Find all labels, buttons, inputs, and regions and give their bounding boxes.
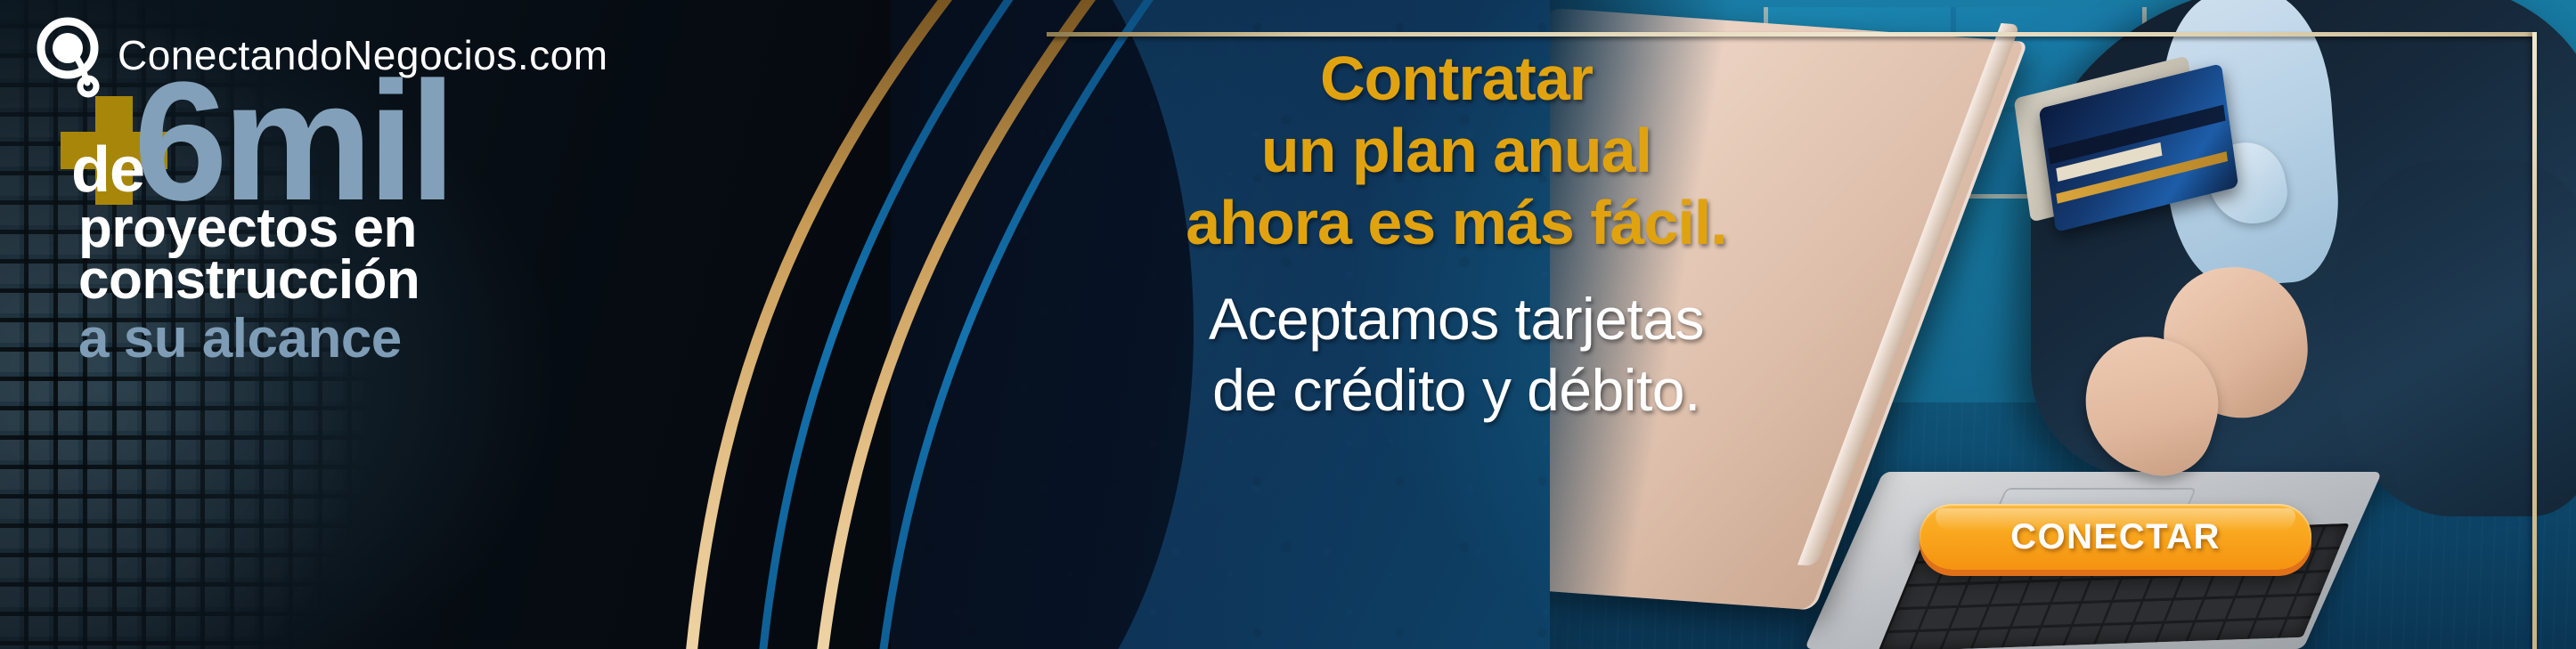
prefix-de: de (71, 134, 144, 207)
frame-right-rule (2532, 32, 2537, 649)
promo-subtext: Aceptamos tarjetas de crédito y débito. (1056, 283, 1857, 426)
promo-headline-line-3: ahora es más fácil. (1056, 187, 1857, 259)
promo-subtext-line-2: de crédito y débito. (1056, 354, 1857, 426)
promo-subtext-line-1: Aceptamos tarjetas (1056, 283, 1857, 355)
frame-top-rule (1047, 32, 2537, 37)
promo-headline: Contratar un plan anual ahora es más fác… (1056, 43, 1857, 260)
left-line-2: construcción (78, 252, 420, 308)
promo-copy: Contratar un plan anual ahora es más fác… (1056, 43, 1857, 426)
conectar-button[interactable]: CONECTAR (1920, 504, 2311, 570)
left-line-3: a su alcance (78, 307, 402, 370)
promo-headline-line-2: un plan anual (1056, 115, 1857, 187)
connection-node-ring-icon (36, 12, 103, 98)
left-line-1: proyectos en (78, 200, 417, 256)
promo-headline-line-1: Contratar (1056, 43, 1857, 115)
promo-banner: ConectandoNegocios.com de 6mil proyectos… (0, 0, 2576, 649)
